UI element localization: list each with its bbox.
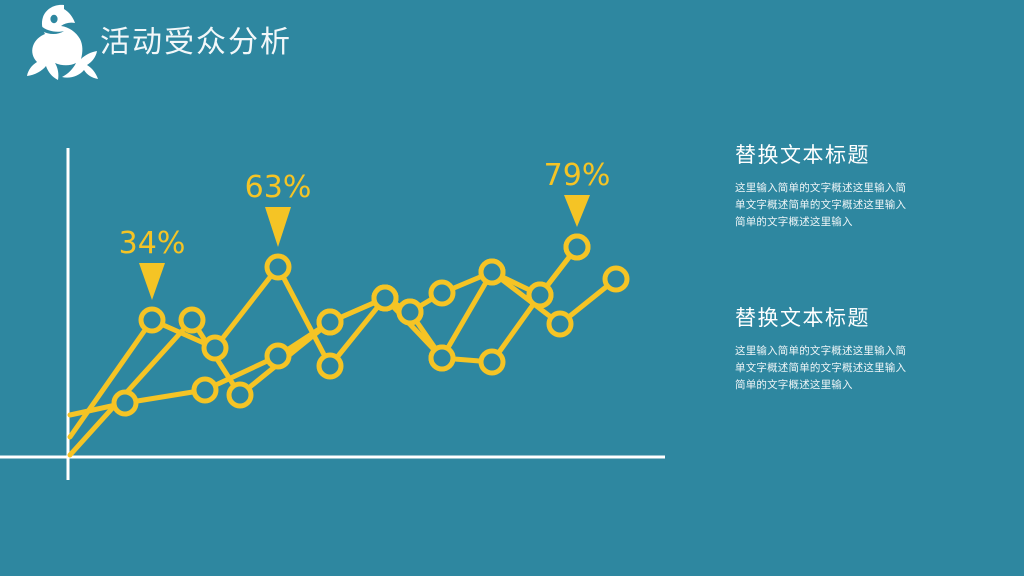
svg-text:34%: 34% [119, 226, 186, 261]
chart-callouts: 34%63%79% [119, 158, 611, 300]
svg-text:63%: 63% [245, 170, 312, 205]
panel-2-heading: 替换文本标题 [735, 303, 1024, 333]
svg-text:79%: 79% [544, 158, 611, 193]
text-panel-2: 替换文本标题 这里输入简单的文字概述这里输入简单文字概述简单的文字概述这里输入简… [735, 303, 1024, 394]
chart-canvas: 34%63%79% [0, 0, 700, 576]
chart-data-markers [114, 236, 627, 414]
text-panel-1: 替换文本标题 这里输入简单的文字概述这里输入简单文字概述简单的文字概述这里输入简… [735, 140, 1024, 231]
panel-1-heading: 替换文本标题 [735, 140, 1024, 170]
panel-2-body: 这里输入简单的文字概述这里输入简单文字概述简单的文字概述这里输入简单的文字概述这… [735, 343, 907, 394]
panel-1-body: 这里输入简单的文字概述这里输入简单文字概述简单的文字概述这里输入简单的文字概述这… [735, 180, 907, 231]
line-chart: 34%63%79% [0, 0, 700, 576]
